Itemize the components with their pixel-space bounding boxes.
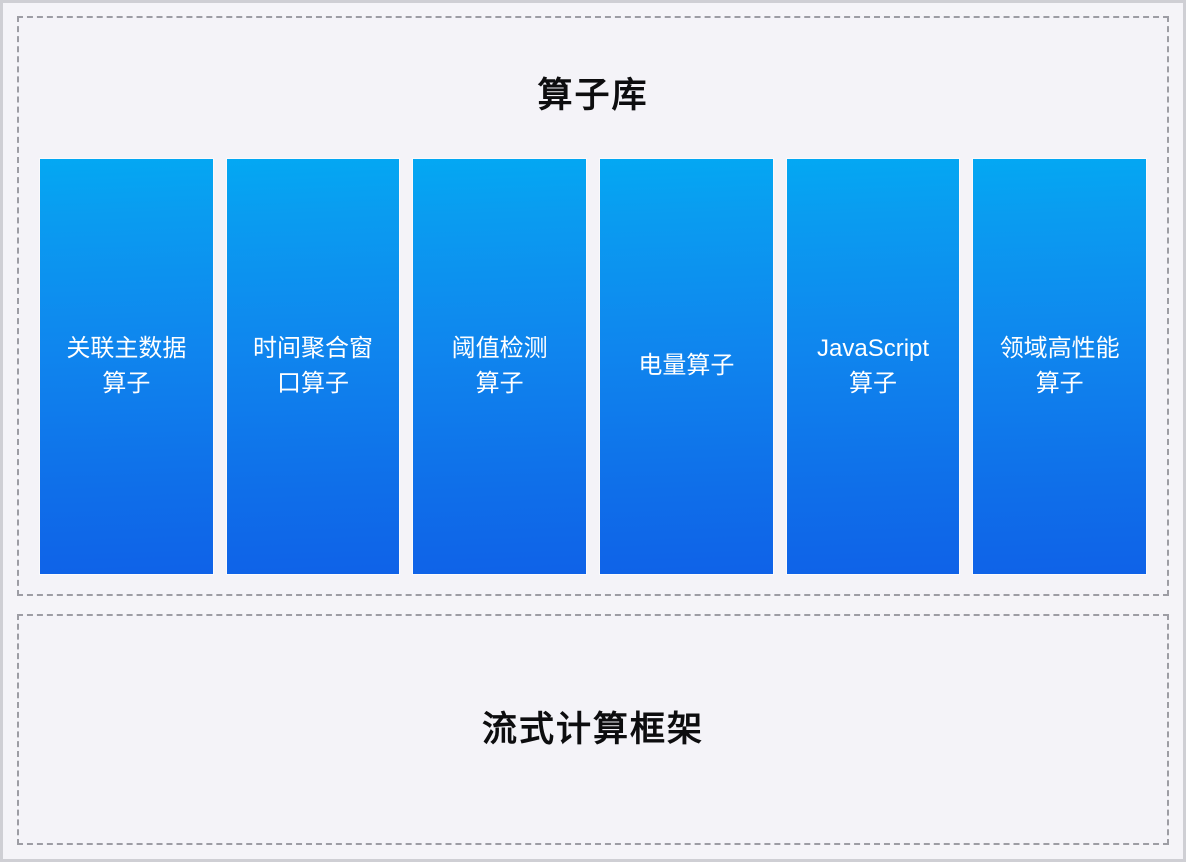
diagram-canvas: 算子库 关联主数据 算子 时间聚合窗 口算子 阈值检测 算子 电量算子 Java… (0, 0, 1186, 862)
operator-card-power-quantity[interactable]: 电量算子 (600, 159, 773, 574)
operator-card-row: 关联主数据 算子 时间聚合窗 口算子 阈值检测 算子 电量算子 JavaScri… (40, 159, 1146, 574)
operator-card-label: 领域高性能 算子 (990, 332, 1130, 400)
streaming-framework-section: 流式计算框架 (17, 614, 1169, 845)
operator-card-label: 时间聚合窗 口算子 (243, 332, 383, 400)
operator-card-master-data-join[interactable]: 关联主数据 算子 (40, 159, 213, 574)
operator-card-time-aggregation-window[interactable]: 时间聚合窗 口算子 (227, 159, 400, 574)
operator-library-title: 算子库 (40, 18, 1146, 159)
operator-card-label: 阈值检测 算子 (442, 332, 558, 400)
operator-card-label: 电量算子 (628, 349, 744, 383)
streaming-framework-title: 流式计算框架 (482, 712, 704, 747)
operator-library-section: 算子库 关联主数据 算子 时间聚合窗 口算子 阈值检测 算子 电量算子 Java… (17, 16, 1169, 596)
operator-card-domain-high-performance[interactable]: 领域高性能 算子 (973, 159, 1146, 574)
operator-card-label: JavaScript 算子 (807, 332, 939, 400)
operator-card-threshold-detection[interactable]: 阈值检测 算子 (413, 159, 586, 574)
operator-card-label: 关联主数据 算子 (56, 332, 196, 400)
operator-card-javascript[interactable]: JavaScript 算子 (787, 159, 960, 574)
